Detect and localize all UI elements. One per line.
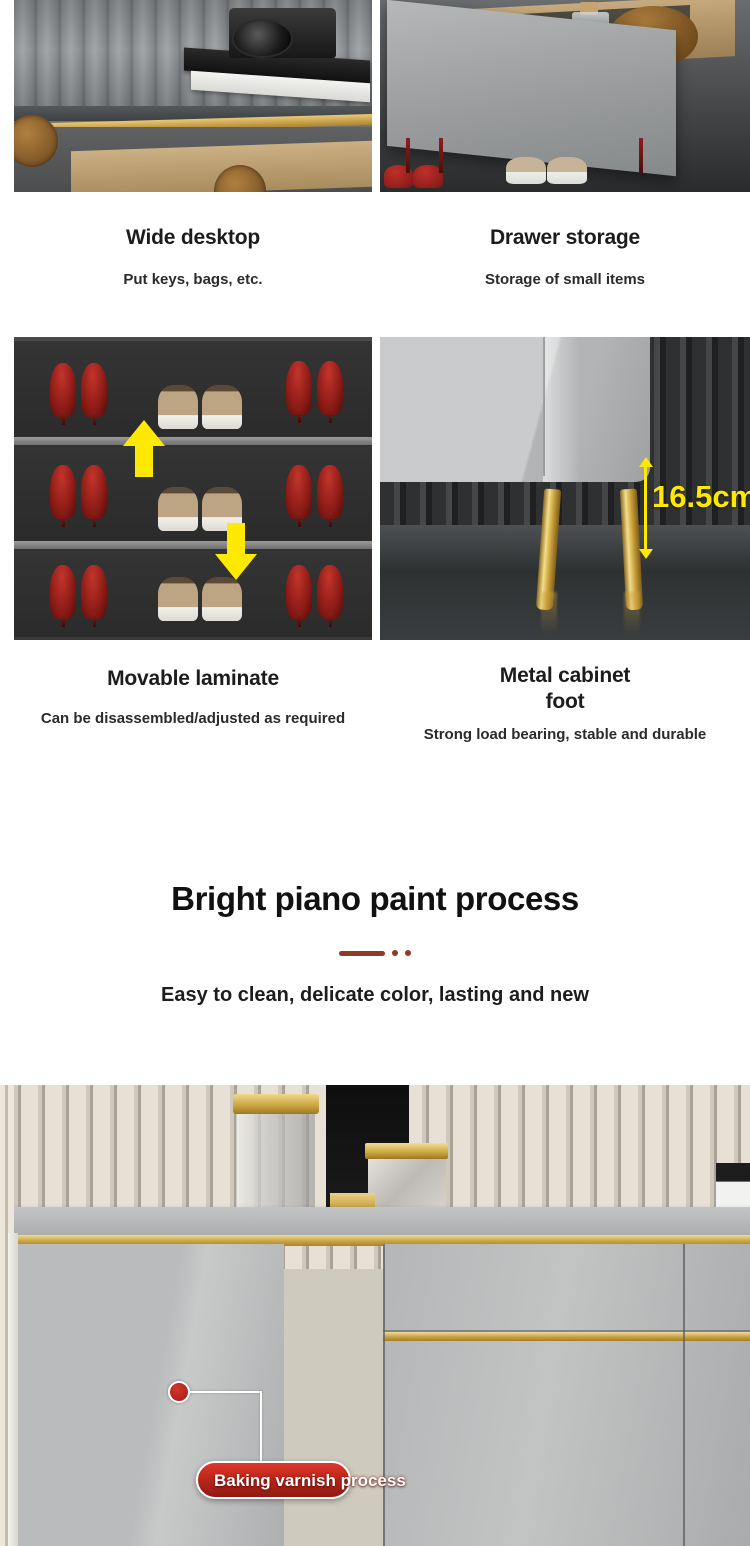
glass-canister: [236, 1099, 315, 1210]
red-shelf-post: [439, 138, 443, 173]
red-heels-pair: [50, 565, 108, 623]
door-seam: [383, 1244, 385, 1546]
feature-cell-metal-cabinet-foot: 16.5cm Metal cabinet foot Strong load be…: [380, 337, 750, 745]
camera-lens: [232, 19, 293, 57]
product-detail-page: Wide desktop Put keys, bags, etc.: [0, 0, 750, 1546]
hero-image: Baking varnish process: [0, 1085, 750, 1546]
feature-title-wide-desktop: Wide desktop: [14, 225, 372, 251]
feature-subtitle-metal-cabinet-foot: Strong load bearing, stable and durable: [380, 726, 750, 744]
shoe-pair: [547, 157, 588, 184]
gold-lid: [233, 1094, 319, 1113]
callout-line-horizontal: [190, 1391, 262, 1393]
feature-cell-wide-desktop: Wide desktop Put keys, bags, etc.: [14, 0, 372, 289]
headline-section: Bright piano paint process Easy to clean…: [0, 880, 750, 1007]
drawer-front-panel: [387, 0, 676, 176]
red-heels-pair: [286, 361, 344, 419]
cabinet-body: [380, 337, 650, 482]
feature-subtitle-drawer-storage: Storage of small items: [380, 271, 750, 289]
shoe-pair: [506, 157, 547, 184]
feature-image-metal-cabinet-foot: 16.5cm: [380, 337, 750, 640]
feature-subtitle-movable-laminate: Can be disassembled/adjusted as required: [14, 710, 372, 728]
gold-handle-band: [383, 1332, 750, 1342]
red-shelf-post: [639, 138, 643, 173]
feature-title-metal-cabinet-foot: Metal cabinet foot: [380, 663, 750, 714]
leg-reflection: [624, 592, 640, 634]
door-frame-molding: [8, 1233, 18, 1546]
divider-dot: [405, 950, 411, 956]
shelf-board: [14, 437, 372, 445]
cabinet-gloss-highlight: [543, 337, 580, 482]
marble-jar: [368, 1152, 447, 1214]
callout-label: Baking varnish process: [214, 1471, 406, 1491]
red-heels-pair: [286, 565, 344, 623]
shelf-board: [14, 541, 372, 549]
gold-lid: [365, 1143, 448, 1159]
feature-image-drawer-storage: [380, 0, 750, 192]
marble-floor: [380, 525, 750, 640]
drawer-seam: [383, 1330, 750, 1332]
callout-marker-dot: [168, 1381, 190, 1403]
feature-image-movable-laminate: [14, 337, 372, 640]
section-headline: Bright piano paint process: [0, 880, 750, 918]
feature-title-drawer-storage: Drawer storage: [380, 225, 750, 251]
sneakers-pair: [158, 577, 244, 629]
divider-bar: [339, 951, 385, 956]
feature-image-wide-desktop: [14, 0, 372, 192]
feature-title-line2: foot: [380, 689, 750, 715]
callout-line-vertical: [260, 1391, 262, 1465]
feature-cell-movable-laminate: Movable laminate Can be disassembled/adj…: [14, 337, 372, 728]
red-heels-pair: [286, 465, 344, 523]
door-seam: [683, 1244, 685, 1546]
dimension-label: 16.5cm: [652, 479, 750, 515]
cabinet-door-left: [14, 1244, 284, 1546]
feature-title-line1: Metal cabinet: [380, 663, 750, 689]
feature-subtitle-wide-desktop: Put keys, bags, etc.: [14, 271, 372, 289]
red-heels-pair: [50, 363, 108, 421]
decorative-divider: [0, 950, 750, 956]
divider-dot: [392, 950, 398, 956]
feature-title-movable-laminate: Movable laminate: [14, 666, 372, 692]
red-heels-pair: [50, 465, 108, 523]
red-shelf-post: [406, 138, 410, 173]
cabinet-door-right: [383, 1244, 750, 1546]
feature-cell-drawer-storage: Drawer storage Storage of small items: [380, 0, 750, 289]
sneakers-pair: [158, 385, 244, 437]
section-subhead: Easy to clean, delicate color, lasting a…: [0, 984, 750, 1007]
leg-reflection: [541, 592, 557, 634]
cabinet-countertop: [10, 1207, 750, 1237]
